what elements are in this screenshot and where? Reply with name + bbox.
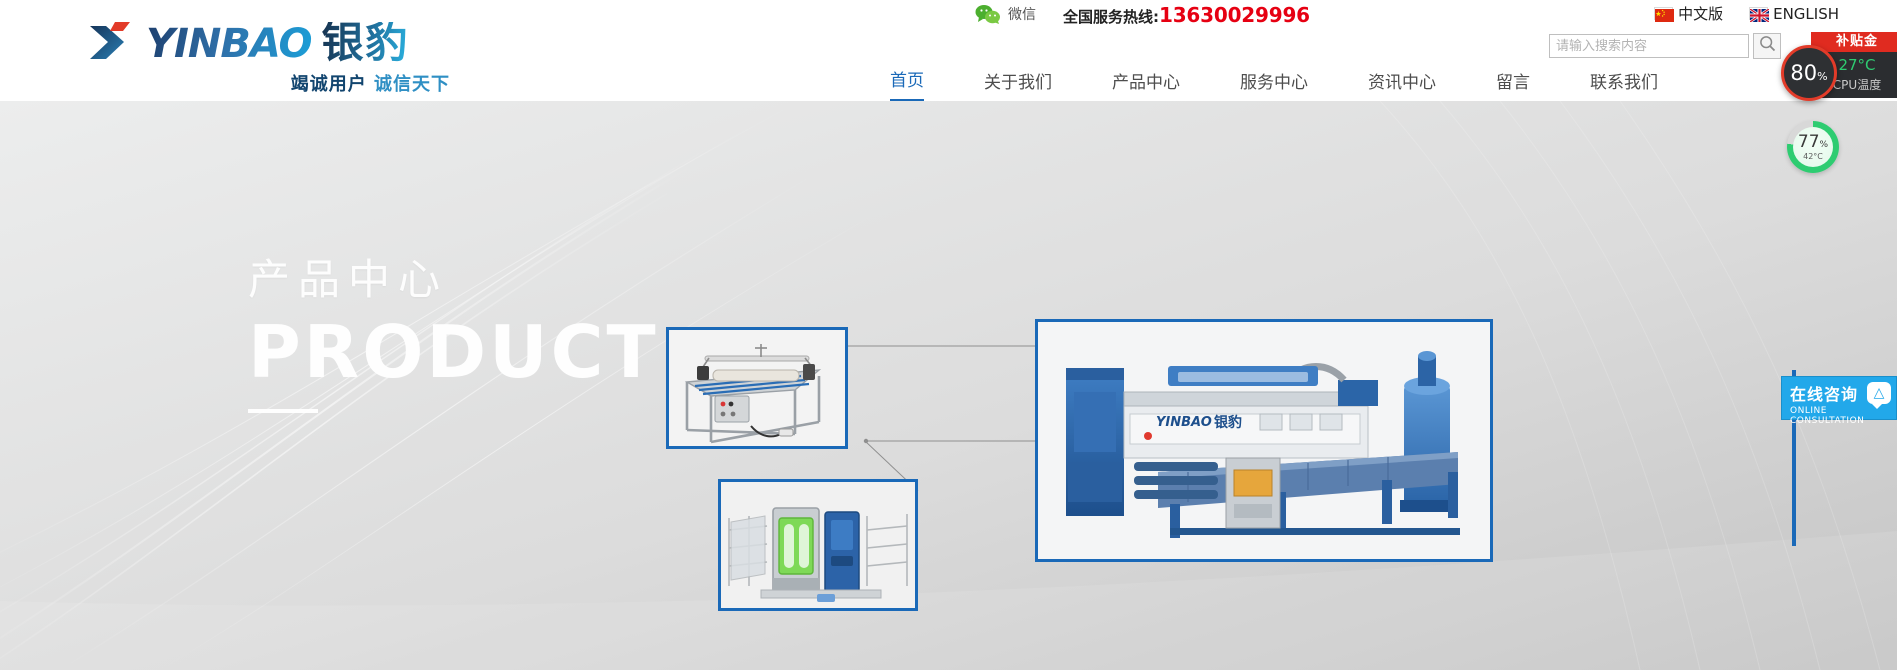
online-consultation-widget[interactable]: 在线咨询 ONLINE CONSULTATION △ xyxy=(1781,376,1897,420)
cpu-usage-gauge[interactable]: 80% xyxy=(1781,45,1837,101)
language-link-chinese[interactable]: 中文版 xyxy=(1654,3,1723,24)
banner-divider xyxy=(248,409,318,413)
nav-item-contact[interactable]: 联系我们 xyxy=(1560,66,1688,100)
consultation-subtitle: ONLINE CONSULTATION xyxy=(1790,406,1890,426)
fabric-rolling-machine-illustration xyxy=(669,330,845,446)
nav-item-message[interactable]: 留言 xyxy=(1466,66,1560,100)
nav-item-home[interactable]: 首页 xyxy=(860,64,954,101)
disk-temperature-value: 42°C xyxy=(1803,152,1823,161)
glass-sandblasting-line-illustration: YINBAO 银豹 xyxy=(1038,322,1490,559)
nav-item-about[interactable]: 关于我们 xyxy=(954,66,1082,100)
chevron-right-icon xyxy=(90,22,136,64)
site-logo[interactable]: YINBAO 银豹 竭诚用户 诚信天下 xyxy=(90,18,450,90)
uk-flag-icon xyxy=(1749,7,1768,20)
logo-chinese-text: 银豹 xyxy=(322,22,410,64)
product-featured-image-sandblasting-line[interactable]: YINBAO 银豹 xyxy=(1035,319,1493,562)
disk-usage-value: 77% xyxy=(1798,134,1828,151)
wechat-icon xyxy=(975,4,1001,24)
hero-banner: 产品中心 PRODUCT xyxy=(0,101,1897,670)
site-header: YINBAO 银豹 竭诚用户 诚信天下 微信 xyxy=(0,0,1897,101)
wechat-label: 微信 xyxy=(1008,4,1036,24)
product-thumbnail-fabric-rolling-machine[interactable] xyxy=(666,327,848,449)
disk-usage-gauge[interactable]: 77% 42°C xyxy=(1787,121,1839,173)
hotline-number: 13630029996 xyxy=(1159,3,1310,27)
chat-bubble-icon: △ xyxy=(1867,382,1891,404)
svg-text:银豹: 银豹 xyxy=(1214,414,1242,431)
wechat-entry[interactable]: 微信 xyxy=(975,4,1036,24)
disk-gauge-inner: 77% 42°C xyxy=(1793,127,1833,167)
hotline: 全国服务热线: 13630029996 xyxy=(1063,3,1310,27)
logo-latin-text: YINBAO xyxy=(146,24,312,64)
nav-item-products[interactable]: 产品中心 xyxy=(1082,66,1210,100)
logo-slogan: 竭诚用户 诚信天下 xyxy=(90,70,450,96)
machine-logo-text: YINBAO 银豹 xyxy=(1156,414,1242,431)
logo-slogan-part1: 竭诚用户 xyxy=(291,74,367,95)
svg-text:YINBAO: YINBAO xyxy=(1156,415,1212,430)
hotline-label: 全国服务热线: xyxy=(1063,6,1159,27)
nav-item-service[interactable]: 服务中心 xyxy=(1210,66,1338,100)
language-label-english: ENGLISH xyxy=(1773,5,1839,23)
logo-main: YINBAO 银豹 xyxy=(90,18,450,64)
cpu-usage-value: 80% xyxy=(1790,63,1827,84)
nav-item-news[interactable]: 资讯中心 xyxy=(1338,66,1466,100)
language-switcher: 中文版 ENGLISH xyxy=(1654,3,1839,24)
search-button[interactable] xyxy=(1753,33,1781,59)
search-box xyxy=(1549,33,1781,59)
language-link-english[interactable]: ENGLISH xyxy=(1749,5,1839,23)
banner-title-chinese: 产品中心 xyxy=(248,246,768,307)
page-root: YINBAO 银豹 竭诚用户 诚信天下 微信 xyxy=(0,0,1897,670)
glass-washing-machine-illustration xyxy=(721,482,915,608)
product-thumbnail-glass-washing-machine[interactable] xyxy=(718,479,918,611)
search-icon xyxy=(1759,35,1776,57)
china-flag-icon xyxy=(1654,7,1673,20)
main-navigation: 首页 关于我们 产品中心 服务中心 资讯中心 留言 联系我们 xyxy=(860,64,1688,101)
search-input[interactable] xyxy=(1549,34,1749,58)
language-label-chinese: 中文版 xyxy=(1678,3,1723,24)
logo-slogan-part2: 诚信天下 xyxy=(374,74,450,95)
